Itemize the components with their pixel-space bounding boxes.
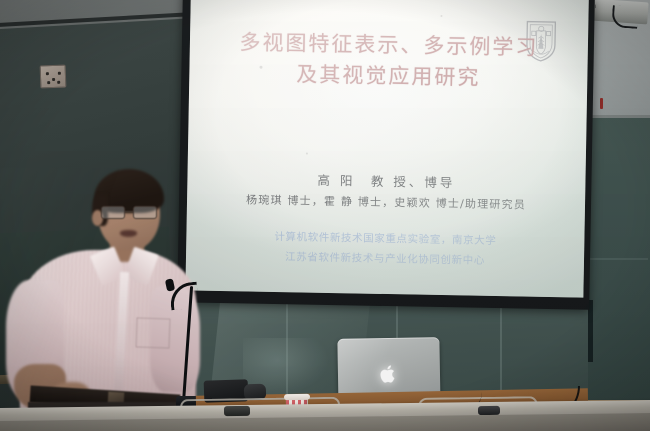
glass-mullion: [500, 296, 502, 396]
socket-hole: [58, 72, 61, 75]
right-wall-lower: [586, 118, 650, 403]
projection-screen: 多视图特征表示、多示例学习 及其视觉应用研究 高 阳 教 授、博导 杨琬琪 博士…: [177, 0, 595, 310]
slide-title: 多视图特征表示、多示例学习 及其视觉应用研究: [189, 26, 588, 95]
screen-dust-speck: [306, 153, 308, 155]
slide-author-list: 杨琬琪 博士，霍 静 博士，史颖欢 博士/助理研究员: [187, 190, 585, 213]
apple-logo-icon: [380, 364, 397, 384]
wall-power-socket: [40, 65, 67, 89]
eyeglass-lens-right: [133, 206, 157, 219]
right-wall-red-marker: [600, 98, 603, 109]
slide-affiliation-line-2: 江苏省软件新技术与产业化协同创新中心: [186, 245, 584, 272]
screen-dust-speck: [259, 66, 262, 69]
shirt-pocket: [135, 317, 170, 348]
slide-title-line-1: 多视图特征表示、多示例学习: [239, 30, 538, 59]
glass-mullion: [286, 296, 288, 396]
projection-screen-surface: 多视图特征表示、多示例学习 及其视觉应用研究 高 阳 教 授、博导 杨琬琪 博士…: [185, 0, 588, 298]
socket-hole: [57, 81, 60, 84]
presenter-mouth: [120, 230, 137, 237]
eyeglass-lens-left: [101, 206, 125, 219]
slide-presenter-name: 高 阳 教 授、博导: [187, 167, 585, 193]
desk-connector-port: [224, 406, 250, 416]
socket-hole: [47, 81, 50, 84]
screen-dust-speck: [440, 15, 442, 17]
paper-cup-rim: [284, 394, 310, 400]
eyeglass-bridge: [125, 211, 133, 212]
slide-affiliation-line-1: 计算机软件新技术国家重点实验室，南京大学: [274, 231, 496, 247]
eyeglasses: [101, 206, 159, 219]
desk-connector-port: [478, 406, 500, 415]
slide-affiliation: 计算机软件新技术国家重点实验室，南京大学 江苏省软件新技术与产业化协同创新中心: [186, 225, 585, 272]
right-wall-crease: [588, 258, 648, 260]
slide-title-line-2: 及其视觉应用研究: [189, 57, 588, 95]
socket-hole: [46, 72, 49, 75]
presentation-slide: 多视图特征表示、多示例学习 及其视觉应用研究 高 阳 教 授、博导 杨琬琪 博士…: [185, 0, 588, 298]
socket-hole: [52, 78, 55, 81]
lecture-photo-scene: MITSUBISHI: [0, 0, 650, 431]
